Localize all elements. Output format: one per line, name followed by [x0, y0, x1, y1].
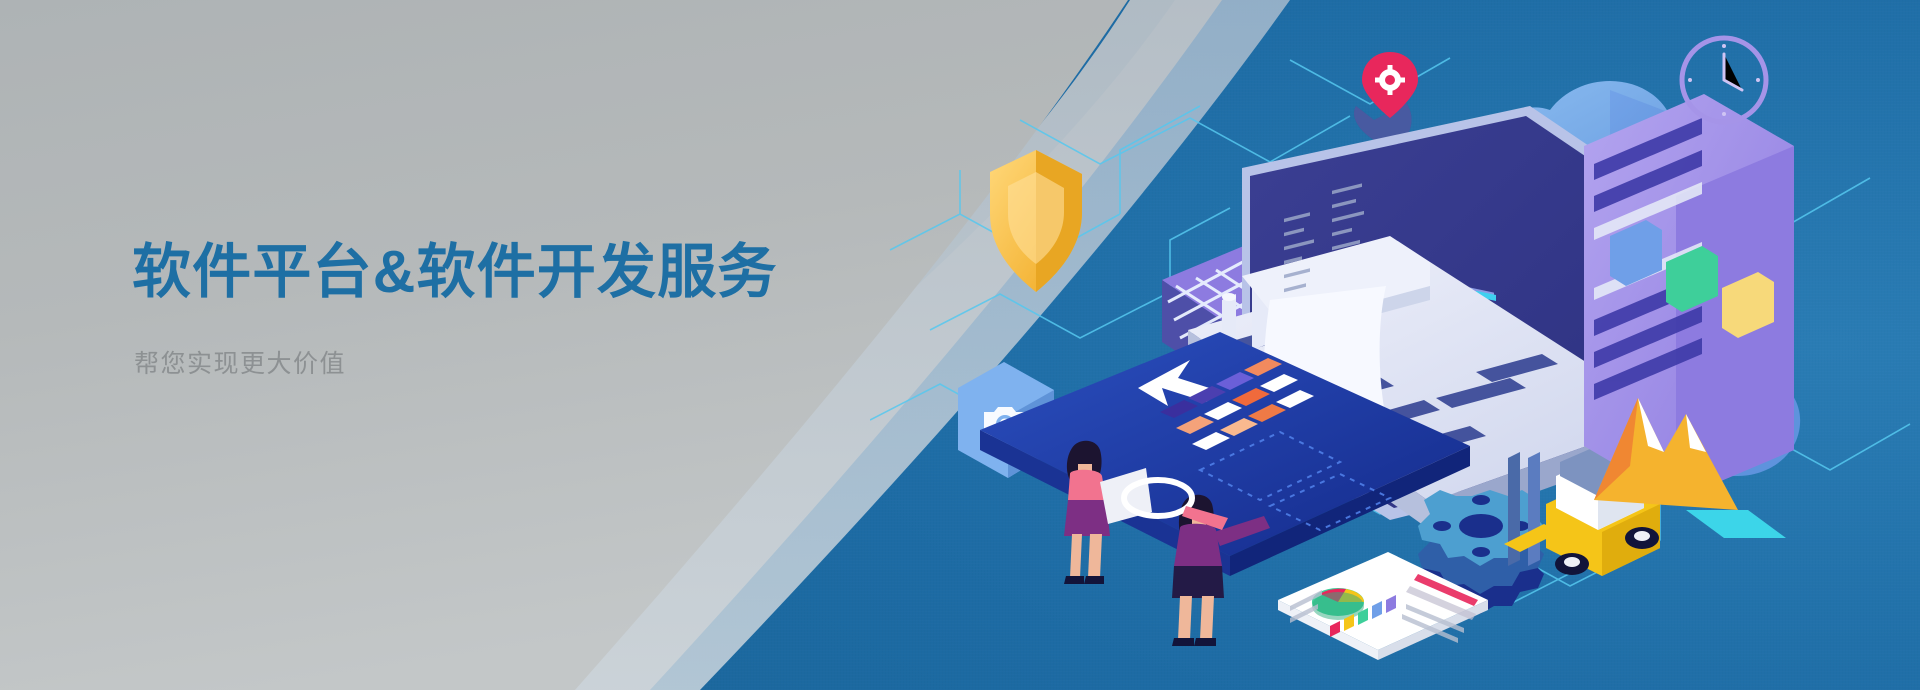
gear-badge-icon — [1362, 52, 1418, 118]
hero-illustration — [870, 0, 1920, 690]
shield-icon — [990, 150, 1082, 292]
page-title: 软件平台&软件开发服务 — [132, 238, 952, 308]
banner-copy: 软件平台&软件开发服务 帮您实现更大价值 — [132, 238, 952, 380]
page-subtitle: 帮您实现更大价值 — [134, 344, 952, 380]
banner-stage: 软件平台&软件开发服务 帮您实现更大价值 — [0, 0, 1920, 690]
